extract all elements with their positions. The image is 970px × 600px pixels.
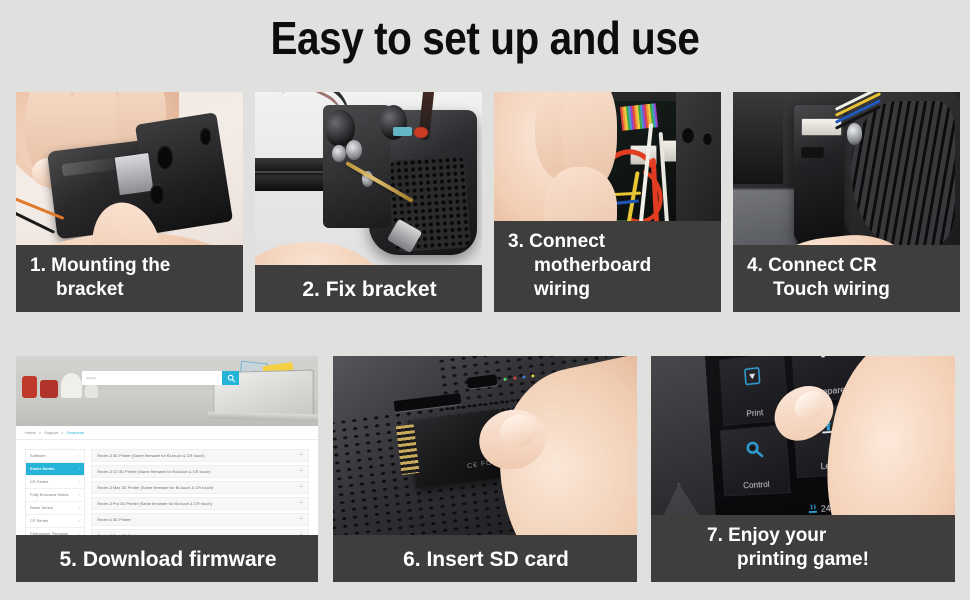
list-item[interactable]: Ender-3 3D Printer (Same firmware for BL… xyxy=(91,449,308,462)
sidebar-item-ender-series[interactable]: Ender Series › xyxy=(26,463,84,476)
website-search-bar[interactable]: Search xyxy=(82,371,239,385)
list-item[interactable]: Ender-3 Pro 3D Printer (Same firmware fo… xyxy=(91,497,308,510)
bed-icon xyxy=(807,504,818,516)
chevron-right-icon: › xyxy=(79,466,80,471)
sidebar-label: Ender Series xyxy=(30,466,54,471)
step-3-label-line1: 3. Connect xyxy=(508,231,605,252)
step-4-label-line1: 4. Connect CR xyxy=(747,255,877,276)
firmware-title: Ender-3 V2 3D Printer (Same firmware for… xyxy=(97,469,210,474)
firmware-title: Ender-3 Pro 3D Printer (Same firmware fo… xyxy=(97,501,212,506)
sidebar-item-resin-series[interactable]: Resin Series › xyxy=(26,502,84,515)
website-hero-banner: Search xyxy=(16,356,318,426)
sidebar-label: CR Series xyxy=(30,479,48,484)
list-item[interactable]: Ender-3 V2 3D Printer (Same firmware for… xyxy=(91,465,308,478)
step-1-label: 1. Mounting the bracket xyxy=(16,245,243,312)
chevron-right-icon: › xyxy=(79,479,80,484)
prepare-slider-icon xyxy=(816,356,837,359)
step-7-label: 7. Enjoy your printing game! xyxy=(651,515,955,582)
search-icon[interactable] xyxy=(222,371,239,385)
firmware-title: Ender-6 3D Printer xyxy=(97,517,130,522)
step-4-label: 4. Connect CR Touch wiring xyxy=(733,245,960,312)
breadcrumb: Home > Support > Download xyxy=(16,426,318,440)
list-item[interactable]: Ender-3 Max 3D Printer (Same firmware fo… xyxy=(91,481,308,494)
step-1-label-line1: 1. Mounting the xyxy=(30,255,170,276)
sidebar-label: Fully Enclosed Series xyxy=(30,492,68,497)
expand-icon[interactable]: + xyxy=(300,516,303,522)
firmware-title: Ender-3 3D Printer (Same firmware for BL… xyxy=(97,453,204,458)
sidebar-item-software[interactable]: Software › xyxy=(26,450,84,463)
tile-control[interactable]: Control xyxy=(720,425,791,497)
step-card-5[interactable]: Search Home > Support > Download xyxy=(16,356,318,582)
sidebar-item-cr-series[interactable]: CR Series › xyxy=(26,476,84,489)
breadcrumb-download: Download xyxy=(66,430,84,435)
chevron-right-icon: › xyxy=(79,492,80,497)
gear-wrench-icon xyxy=(743,439,764,460)
step-3-label: 3. Connect motherboard wiring xyxy=(494,221,721,312)
firmware-title: Ender-3 Max 3D Printer (Same firmware fo… xyxy=(97,485,213,490)
step-card-1[interactable]: 1. Mounting the bracket xyxy=(16,92,243,312)
breadcrumb-support[interactable]: Support xyxy=(44,430,58,435)
step-card-7[interactable]: Print Prepare xyxy=(651,356,955,582)
sidebar-item-cp-series[interactable]: CP Series › xyxy=(26,515,84,528)
step-2-label: 2. Fix bracket xyxy=(255,265,482,312)
list-item[interactable]: Ender-6 3D Printer + xyxy=(91,513,308,526)
page-title: Easy to set up and use xyxy=(58,10,912,66)
chevron-right-icon: › xyxy=(79,453,80,458)
sidebar-label: Resin Series xyxy=(30,505,53,510)
expand-icon[interactable]: + xyxy=(300,484,303,490)
sidebar-label: CP Series xyxy=(30,518,48,523)
chevron-right-icon: › xyxy=(79,505,80,510)
step-7-label-line1: 7. Enjoy your xyxy=(707,525,826,546)
step-3-label-line2: motherboard wiring xyxy=(508,254,709,302)
breadcrumb-separator-1: > xyxy=(39,430,41,435)
sidebar-label: Software xyxy=(30,453,46,458)
step-7-label-line2: printing game! xyxy=(707,548,943,572)
expand-icon[interactable]: + xyxy=(300,468,303,474)
print-file-icon xyxy=(742,366,762,386)
search-input[interactable]: Search xyxy=(82,376,96,380)
step-6-label: 6. Insert SD card xyxy=(333,535,637,582)
step-card-2[interactable]: 2. Fix bracket xyxy=(255,92,482,312)
step-card-6[interactable]: C€ FC 6. Insert SD card xyxy=(333,356,637,582)
step-card-3[interactable]: 3. Connect motherboard wiring xyxy=(494,92,721,312)
chevron-right-icon: › xyxy=(79,518,80,523)
sidebar-item-fully-enclosed-series[interactable]: Fully Enclosed Series › xyxy=(26,489,84,502)
breadcrumb-separator-2: > xyxy=(61,430,63,435)
step-1-label-line2: bracket xyxy=(30,278,231,302)
tile-label: Control xyxy=(724,479,789,492)
breadcrumb-home[interactable]: Home xyxy=(25,430,36,435)
step-4-label-line2: Touch wiring xyxy=(747,278,948,302)
expand-icon[interactable]: + xyxy=(300,452,303,458)
step-card-4[interactable]: 4. Connect CR Touch wiring xyxy=(733,92,960,312)
page-root: Easy to set up and use 1. Mounting the b… xyxy=(0,0,970,600)
step-5-label: 5. Download firmware xyxy=(16,535,318,582)
expand-icon[interactable]: + xyxy=(300,500,303,506)
